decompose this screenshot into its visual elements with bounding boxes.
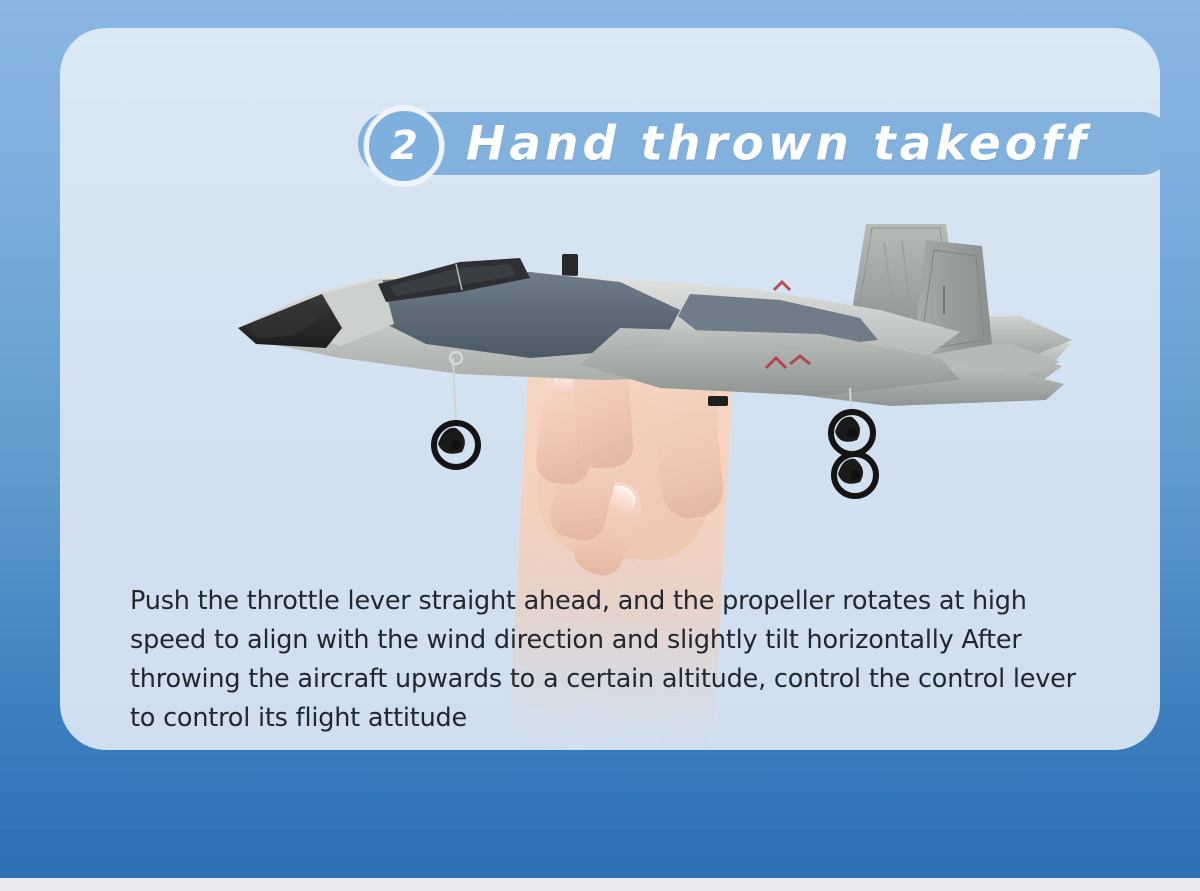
antenna [562, 254, 578, 276]
bottom-strip [0, 878, 1200, 891]
instruction-card: Push the throttle lever straight ahead, … [60, 28, 1160, 750]
rear-landing-gear [831, 388, 876, 496]
step-title-banner: Hand thrown takeoff [358, 112, 1160, 175]
step-title-text: Hand thrown takeoff [466, 116, 1090, 171]
page-root: Push the throttle lever straight ahead, … [0, 0, 1200, 891]
step-number-text: 2 [390, 126, 418, 166]
underwing-sensor [708, 396, 728, 406]
step-number-badge: 2 [364, 106, 444, 186]
instruction-paragraph: Push the throttle lever straight ahead, … [130, 582, 1090, 738]
